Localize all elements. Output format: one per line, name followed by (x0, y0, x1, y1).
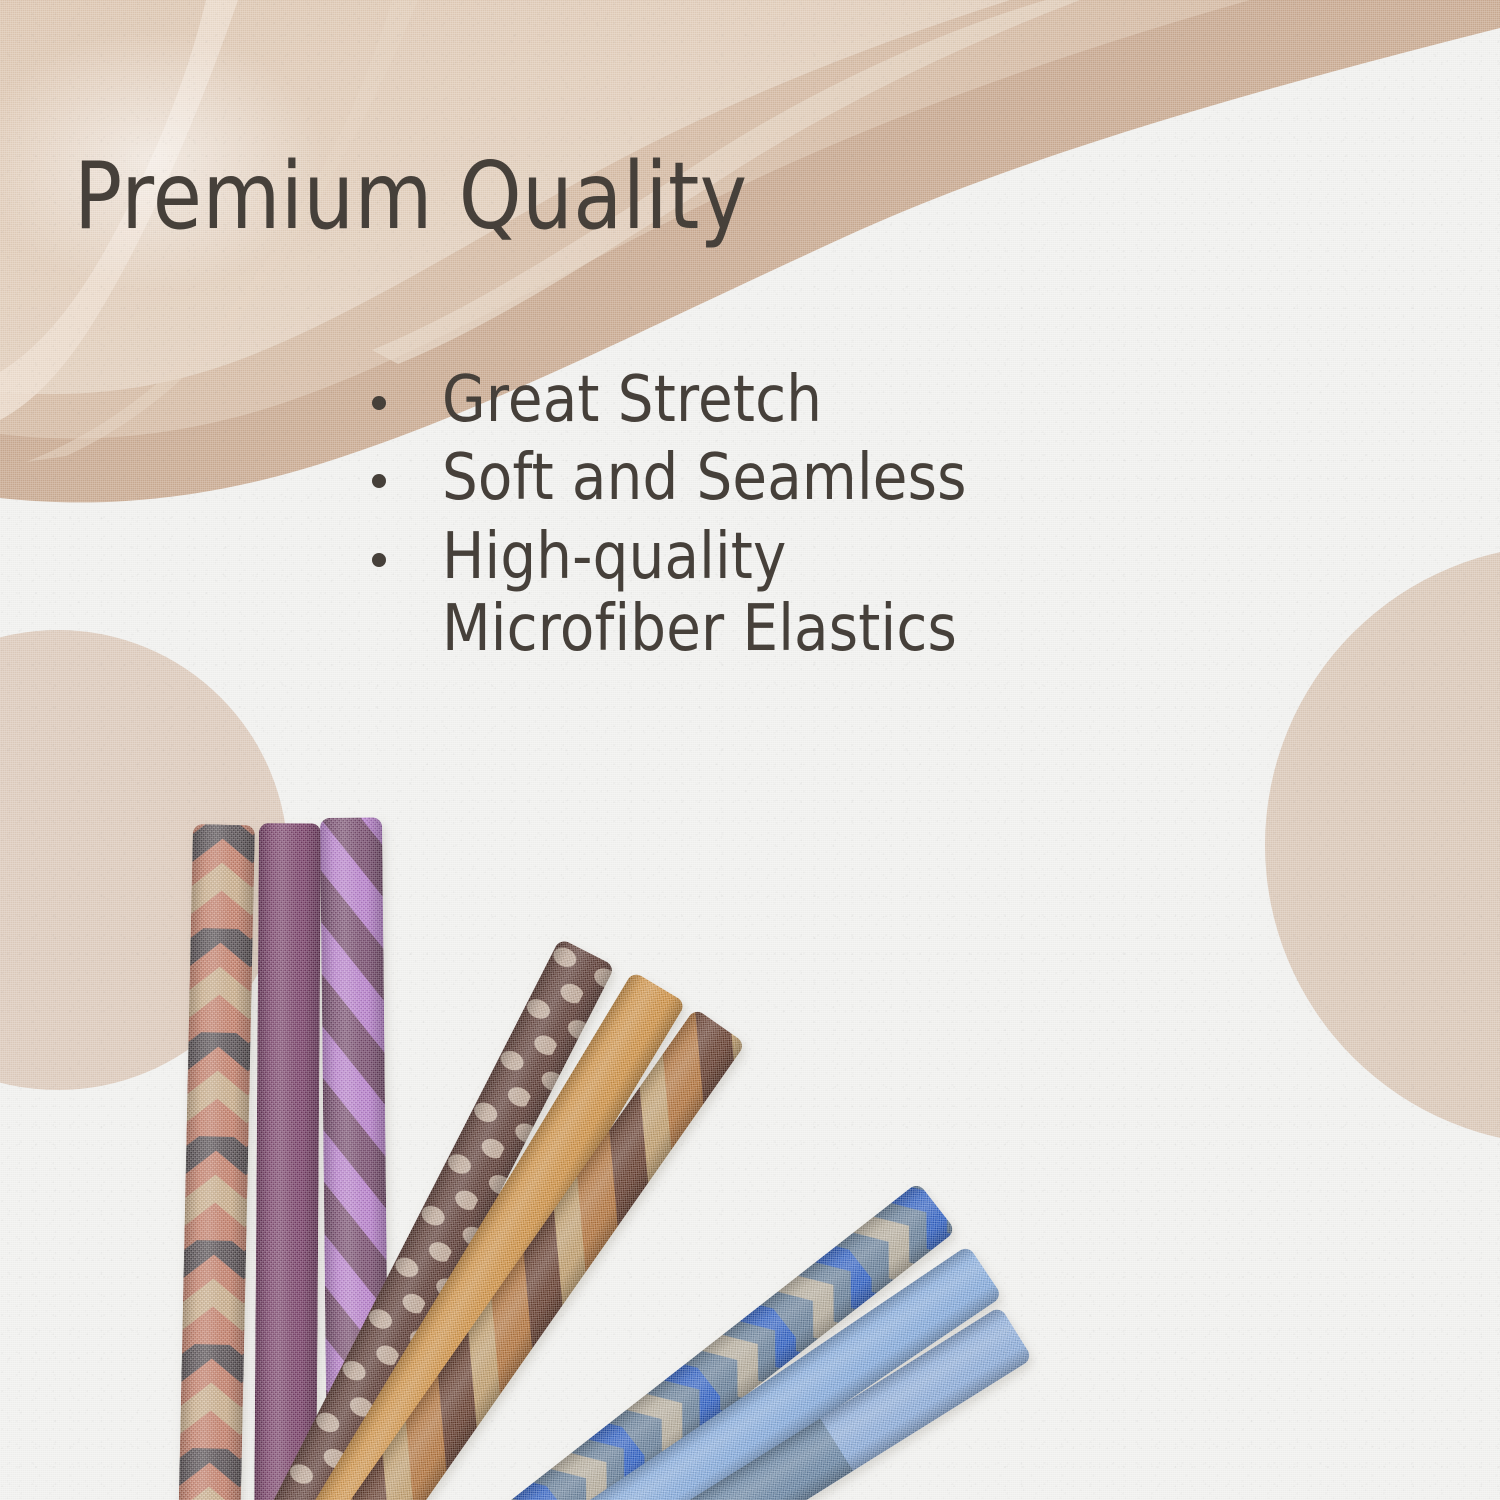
feature-list: Great Stretch Soft and Seamless High-qua… (372, 364, 1172, 671)
page-title: Premium Quality (74, 150, 748, 243)
bullet-dot-icon (372, 553, 386, 567)
band-solid-plum (254, 823, 321, 1500)
band-chevron-terracotta (178, 824, 255, 1500)
feature-label: Great Stretch (442, 364, 822, 436)
bullet-dot-icon (372, 396, 386, 410)
feature-label: Soft and Seamless (442, 442, 967, 514)
list-item: Soft and Seamless (372, 442, 1172, 514)
bullet-dot-icon (372, 474, 386, 488)
list-item: High-quality Microfiber Elastics (372, 521, 1172, 666)
feature-label: High-quality Microfiber Elastics (442, 521, 957, 666)
list-item: Great Stretch (372, 364, 1172, 436)
poster-canvas: Premium Quality Great Stretch Soft and S… (0, 0, 1500, 1500)
